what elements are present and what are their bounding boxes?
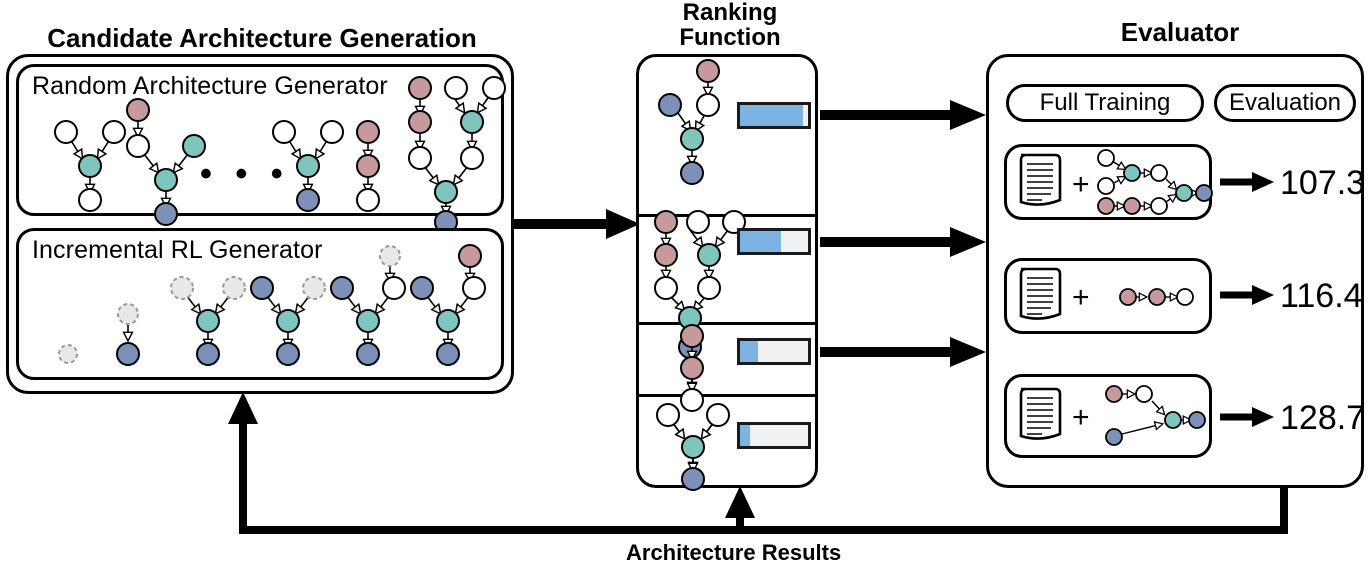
feedback-loop — [0, 0, 1370, 570]
feedback-label: Architecture Results — [626, 540, 841, 566]
